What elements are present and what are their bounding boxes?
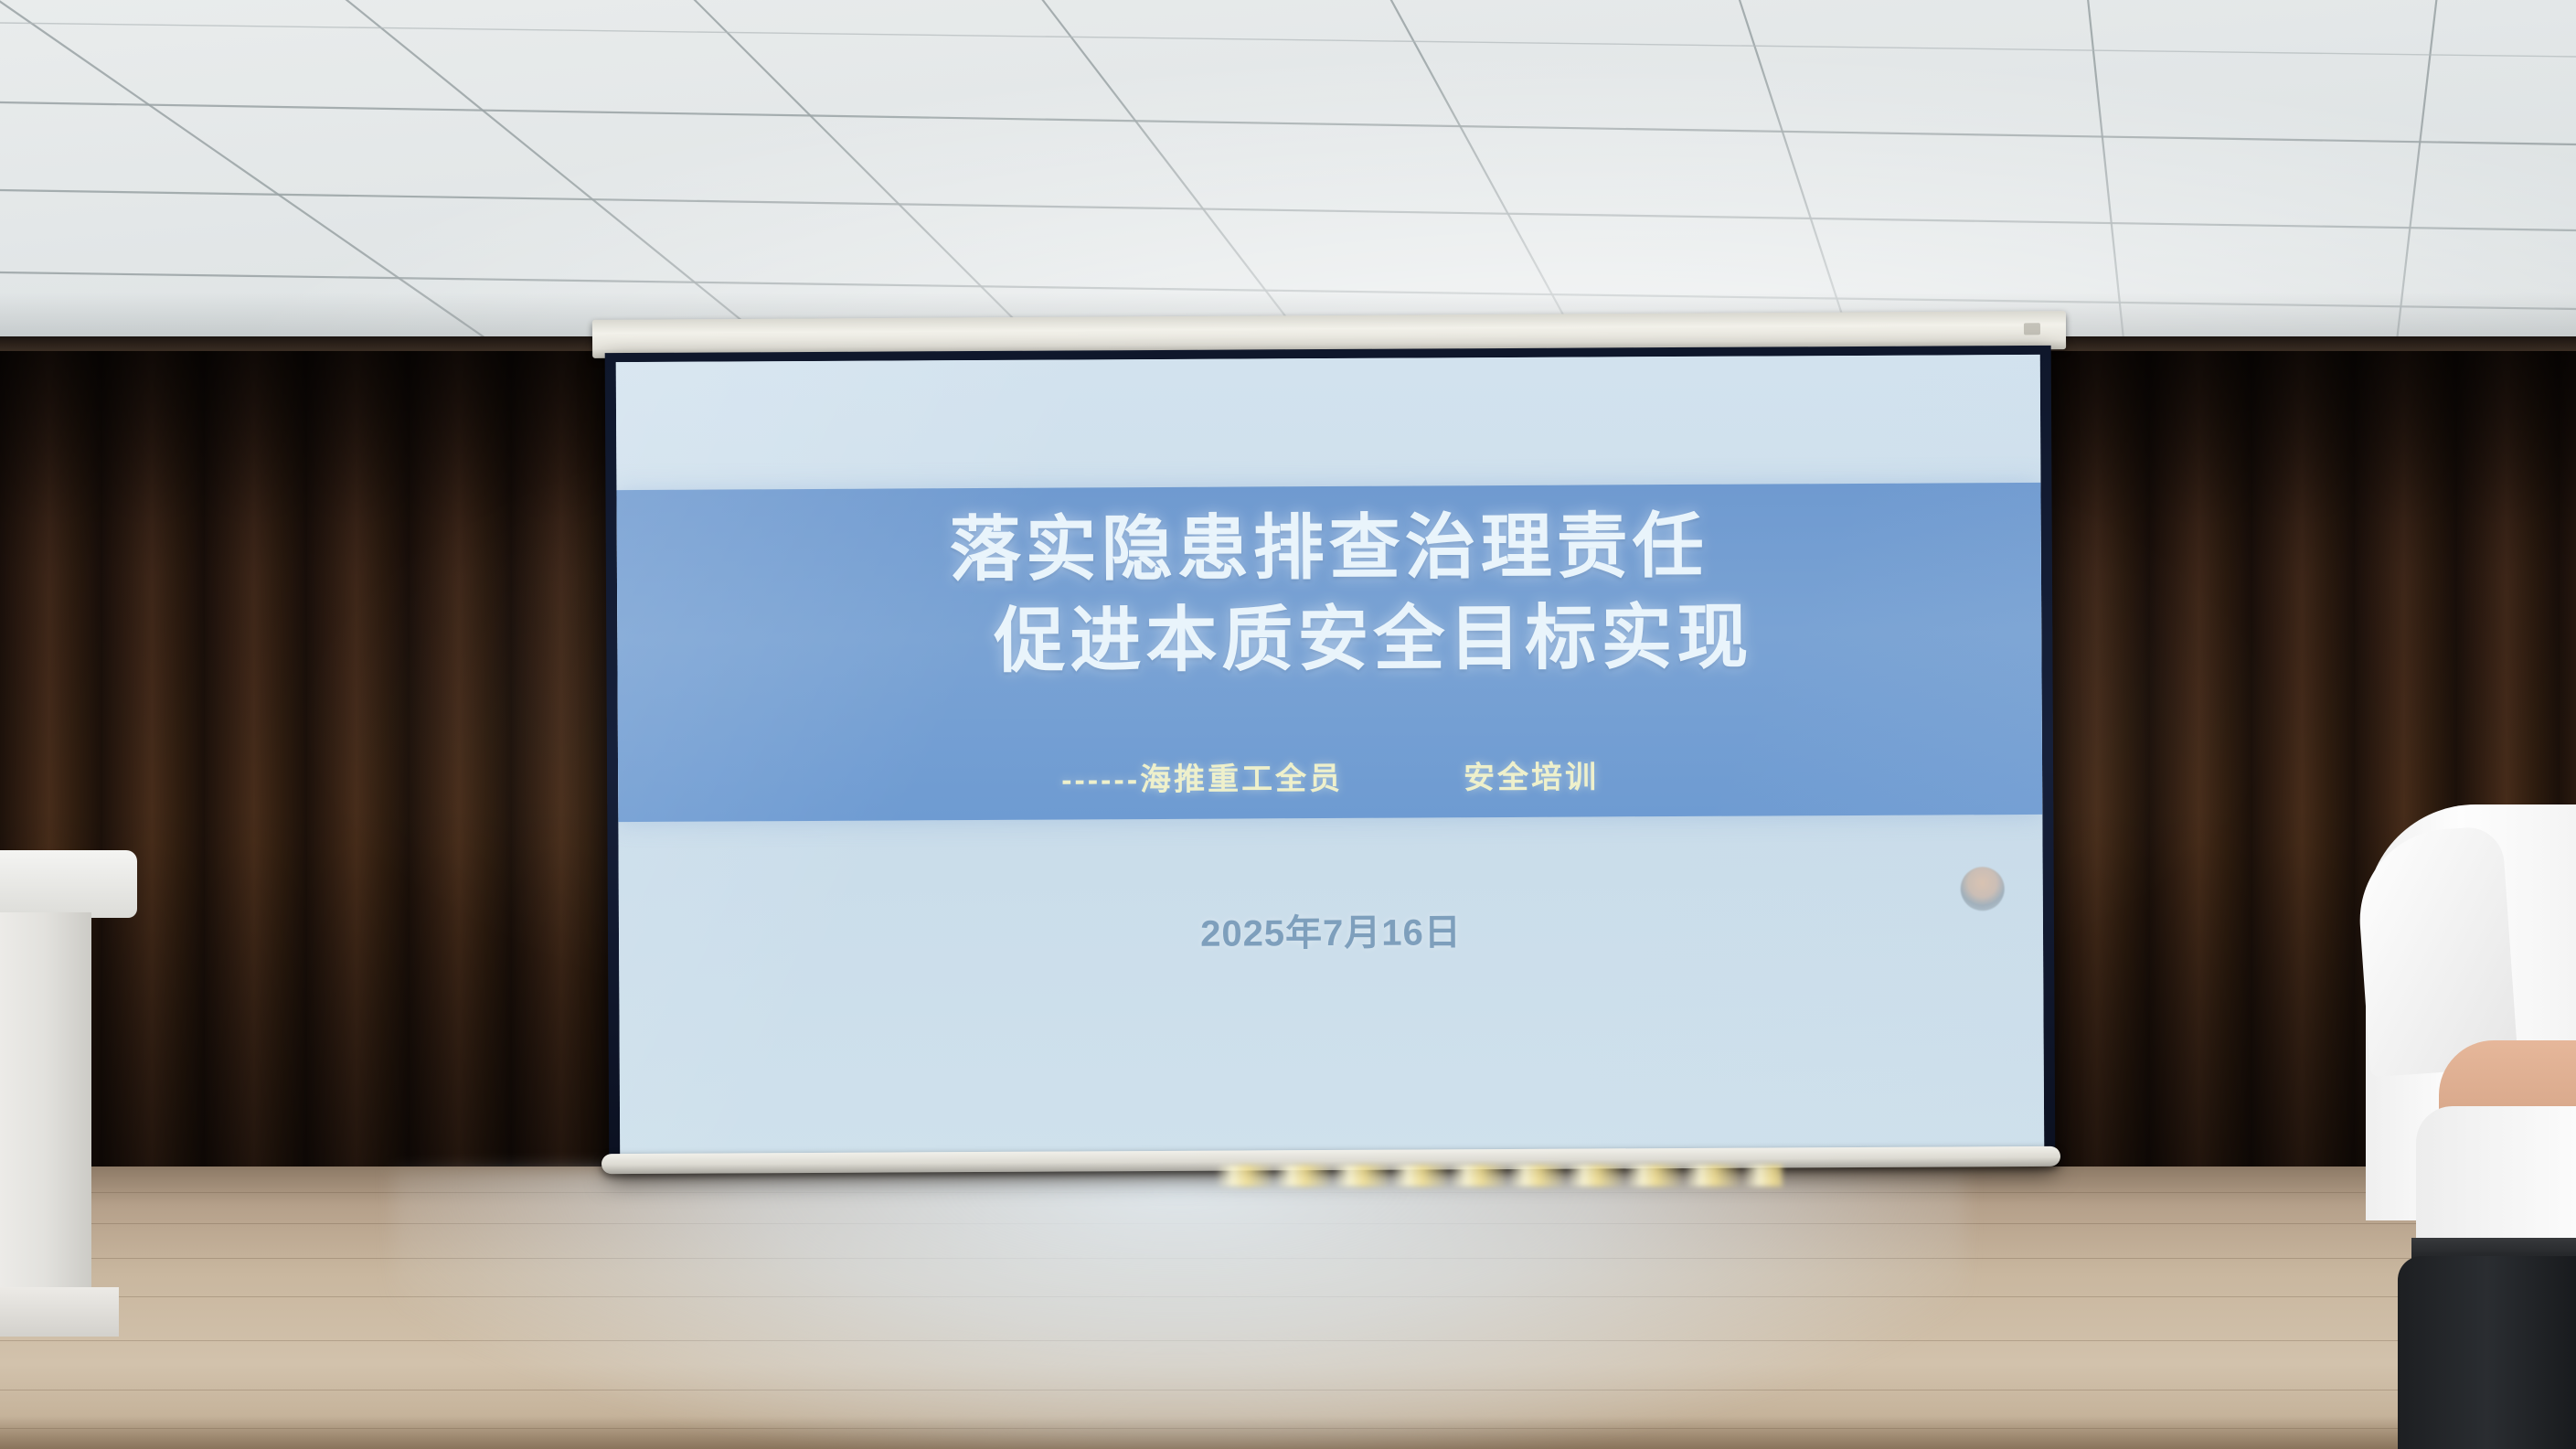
slide-subtitle-right: 安全培训 xyxy=(1464,751,1599,797)
lectern-top xyxy=(0,850,137,918)
person xyxy=(2366,804,2576,1449)
person-shirt-lower xyxy=(2416,1106,2576,1243)
housing-label-mark xyxy=(2024,323,2040,335)
slide-title: 落实隐患排查治理责任 促进本质安全目标实现 xyxy=(617,499,2042,689)
ceiling xyxy=(0,0,2576,357)
lectern xyxy=(0,850,137,1362)
slide-title-line-1: 落实隐患排查治理责任 xyxy=(617,499,2042,598)
projection-screen: 落实隐患排查治理责任 促进本质安全目标实现 ------海推重工全员 安全培训 … xyxy=(605,346,2056,1171)
projector-floor-spill xyxy=(393,1170,1965,1449)
warm-light-strip xyxy=(1216,1165,1783,1187)
room-scene: 落实隐患排查治理责任 促进本质安全目标实现 ------海推重工全员 安全培训 … xyxy=(0,0,2576,1449)
person-sleeve xyxy=(2354,826,2518,1078)
screen-surface: 落实隐患排查治理责任 促进本质安全目标实现 ------海推重工全员 安全培训 … xyxy=(616,355,2045,1162)
slide-subtitle: ------海推重工全员 安全培训 xyxy=(618,750,2042,802)
presenter-avatar-icon xyxy=(1961,867,2005,911)
slide-subtitle-left: ------海推重工全员 xyxy=(1061,753,1343,800)
lectern-base xyxy=(0,1287,119,1337)
slide-title-line-2: 促进本质安全目标实现 xyxy=(617,591,2042,689)
slide-date: 2025年7月16日 xyxy=(619,900,2043,960)
lectern-column xyxy=(0,912,91,1296)
slide: 落实隐患排查治理责任 促进本质安全目标实现 ------海推重工全员 安全培训 … xyxy=(616,355,2045,1162)
person-trousers xyxy=(2398,1256,2576,1449)
